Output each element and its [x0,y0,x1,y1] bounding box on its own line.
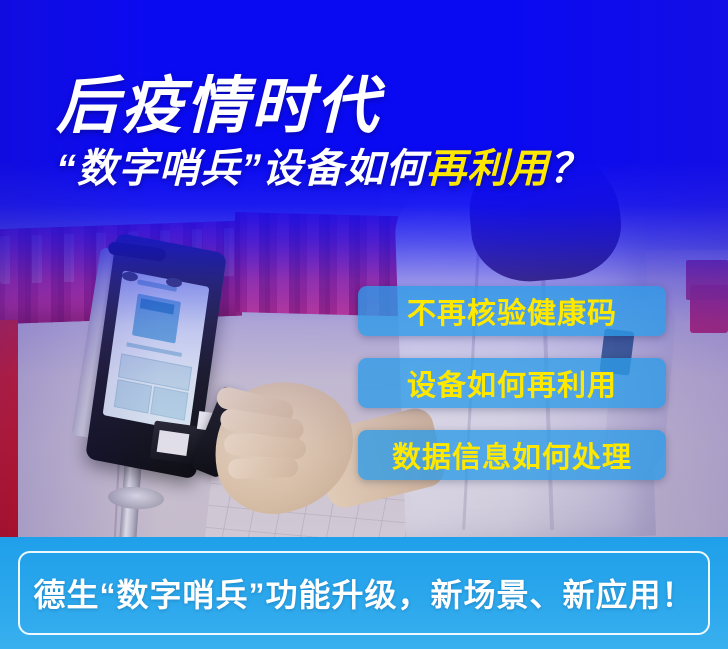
banner-frame: 德生“数字哨兵”功能升级，新场景、新应用！ [18,551,710,635]
topic-pill-1[interactable]: 不再核验健康码 [358,286,666,336]
topic-pill-list: 不再核验健康码 设备如何再利用 数据信息如何处理 [358,286,666,480]
poster-root: 后疫情时代 “数字哨兵”设备如何再利用？ 不再核验健康码 设备如何再利用 数据信… [0,0,728,649]
bottom-banner: 德生“数字哨兵”功能升级，新场景、新应用！ [0,537,728,649]
page-title: 后疫情时代 [56,74,590,139]
banner-text: 德生“数字哨兵”功能升级，新场景、新应用！ [33,570,694,616]
headline-subtitle: “数字哨兵”设备如何再利用？ [56,147,590,191]
headline-subtitle-prefix: “数字哨兵”设备如何 [56,147,426,191]
topic-pill-3[interactable]: 数据信息如何处理 [358,430,666,480]
headline-question-mark: ？ [549,147,590,191]
headline-block: 后疫情时代 “数字哨兵”设备如何再利用？ [56,74,590,191]
topic-pill-2[interactable]: 设备如何再利用 [358,358,666,408]
headline-accent-text: 再利用 [426,147,549,191]
